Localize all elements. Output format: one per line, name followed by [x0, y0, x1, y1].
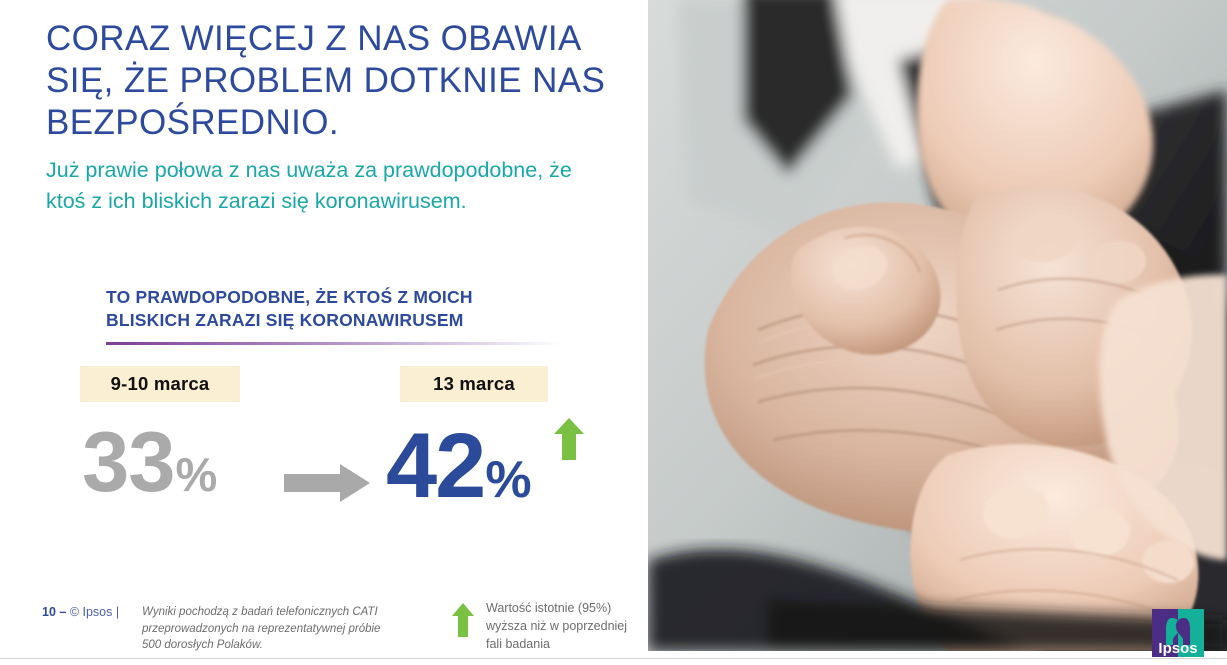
page-title: CORAZ WIĘCEJ Z NAS OBAWIA SIĘ, ŻE PROBLE… [46, 18, 636, 144]
chart-title: TO PRAWDOPODOBNE, ŻE KTOŚ Z MOICH BLISKI… [106, 286, 576, 333]
category-badge-second-wave: 13 marca [400, 366, 548, 402]
legend-label: Wartość istotnie (95%) wyższa niż w popr… [486, 600, 642, 653]
stat-second-wave-percent-sign: % [485, 454, 531, 506]
slide-footer: 10 – © Ipsos | Wyniki pochodzą z badań t… [0, 596, 648, 665]
stat-first-wave: 33 % [82, 420, 217, 505]
stat-second-wave: 42 % [386, 420, 532, 512]
stat-first-wave-number: 33 [82, 420, 175, 505]
footer-separator: | [116, 605, 119, 619]
category-badge-first-wave: 9-10 marca [80, 366, 240, 402]
ipsos-logo-text: Ipsos [1158, 640, 1197, 657]
slide: CORAZ WIĘCEJ Z NAS OBAWIA SIĘ, ŻE PROBLE… [0, 0, 1227, 665]
legend-up-arrow-icon [452, 603, 474, 637]
footer-page-number: 10 [42, 605, 56, 619]
chart-title-underline [106, 342, 561, 345]
significance-up-arrow-icon [554, 418, 584, 460]
chart-category-labels: 9-10 marca 13 marca [0, 366, 648, 404]
trend-arrow-icon [284, 464, 370, 502]
chart-block: TO PRAWDOPODOBNE, ŻE KTOŚ Z MOICH BLISKI… [106, 286, 576, 345]
methodology-note: Wyniki pochodzą z badań telefonicznych C… [142, 604, 392, 654]
footer-identifier: 10 – © Ipsos | [42, 605, 119, 619]
chart-values: 33 % 42 % [0, 412, 648, 532]
bottom-divider [0, 658, 1227, 659]
stat-second-wave-number: 42 [386, 420, 484, 512]
ipsos-logo: Ipsos [1152, 609, 1204, 657]
footer-dash: – [59, 605, 66, 619]
significance-legend: Wartość istotnie (95%) wyższa niż w popr… [452, 600, 642, 653]
stat-first-wave-percent-sign: % [176, 451, 218, 498]
footer-copyright: © Ipsos [70, 605, 113, 619]
content-pane: CORAZ WIĘCEJ Z NAS OBAWIA SIĘ, ŻE PROBLE… [0, 0, 648, 665]
hero-photo-elderly-hands [648, 0, 1227, 651]
page-subtitle: Już prawie połowa z nas uważa za prawdop… [46, 155, 586, 217]
